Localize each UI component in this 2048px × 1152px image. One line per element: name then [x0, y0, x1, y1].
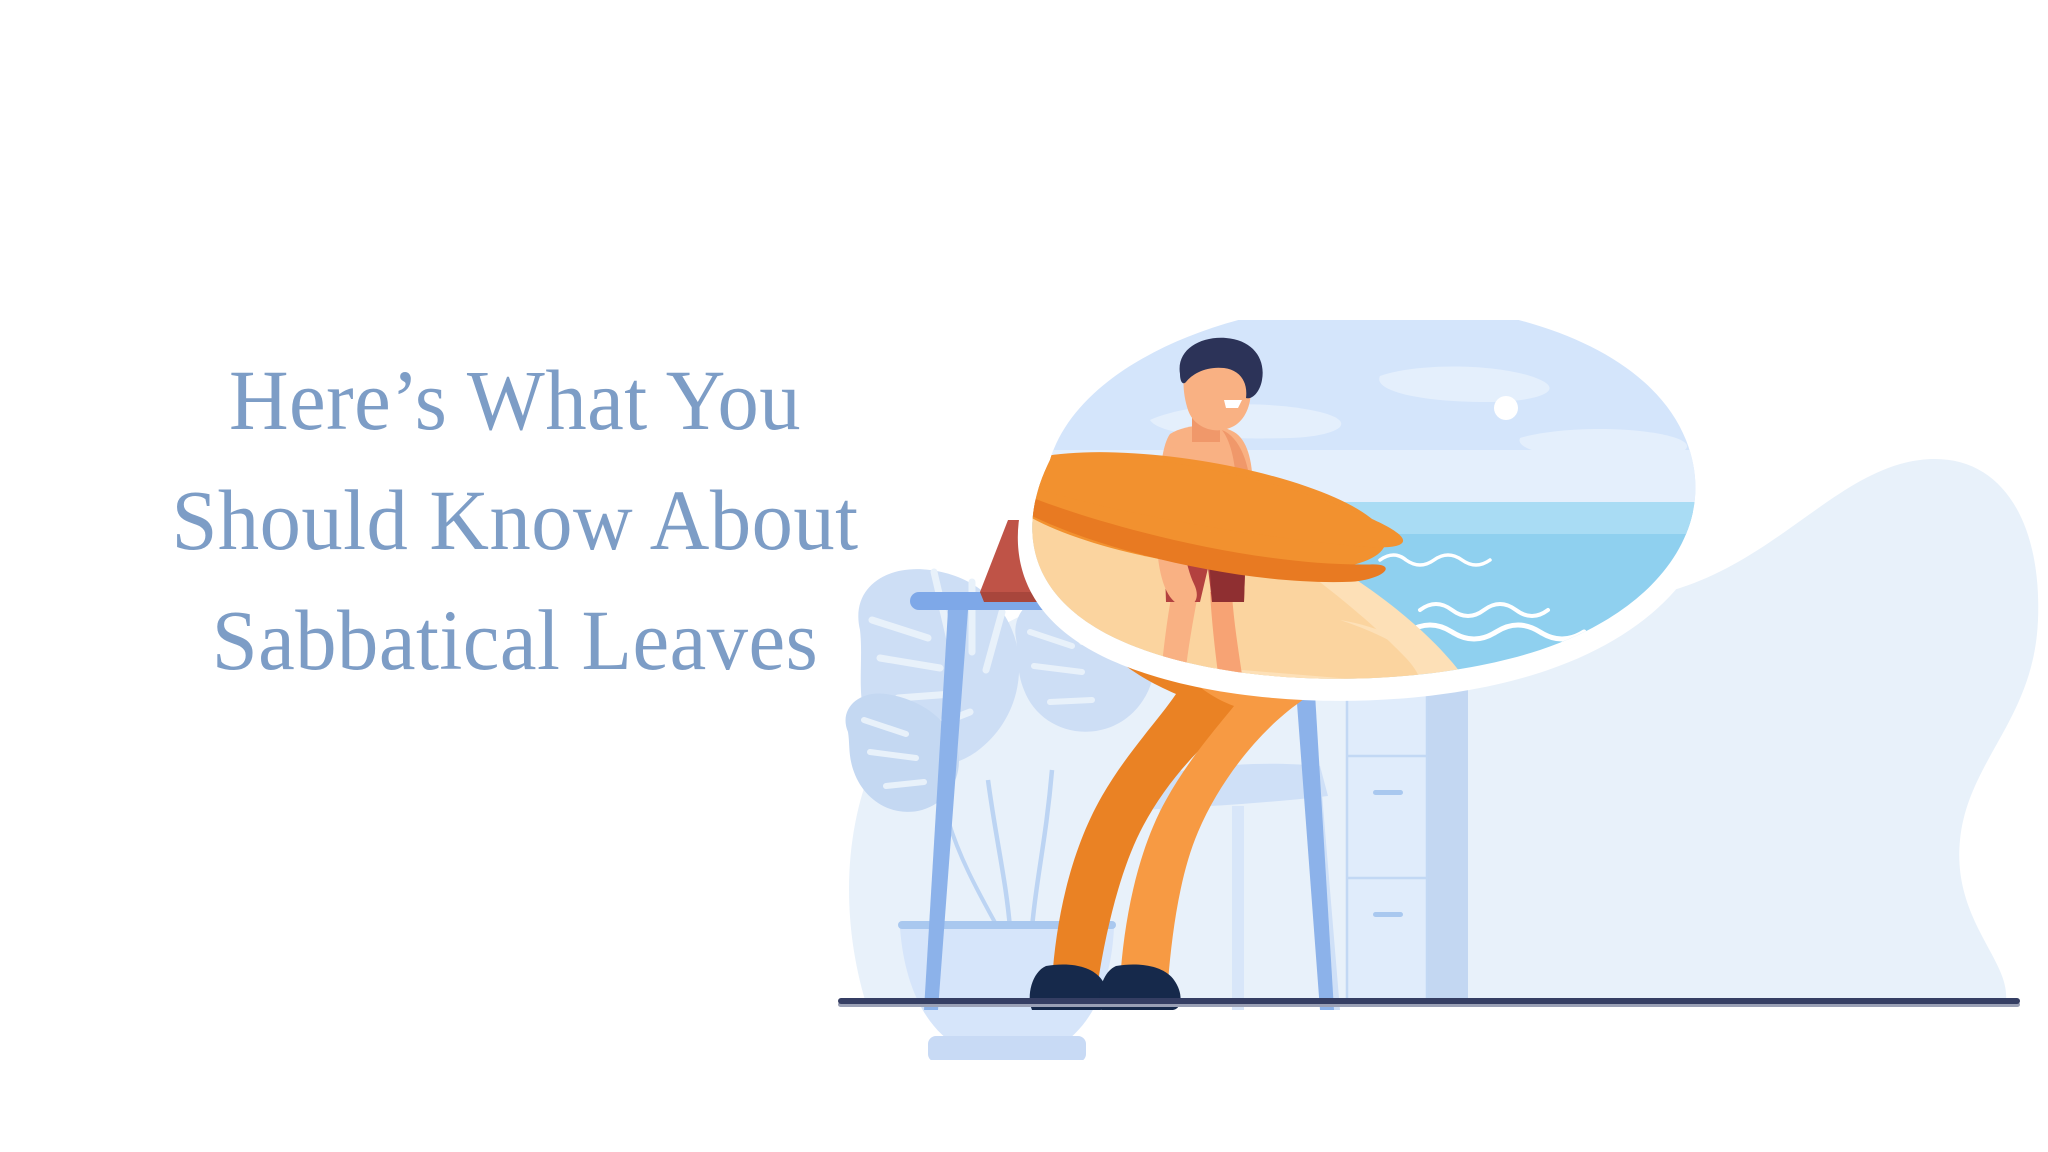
page-title: Here’s What You Should Know About Sabbat…: [100, 340, 930, 700]
headline-line-1: Here’s What You: [117, 340, 914, 460]
ground-line: [838, 998, 2020, 1007]
illustration: [820, 320, 2048, 1060]
headline-line-3: Sabbatical Leaves: [117, 580, 914, 700]
banner-root: Here’s What You Should Know About Sabbat…: [0, 0, 2048, 1152]
headline-line-2: Should Know About: [117, 460, 914, 580]
